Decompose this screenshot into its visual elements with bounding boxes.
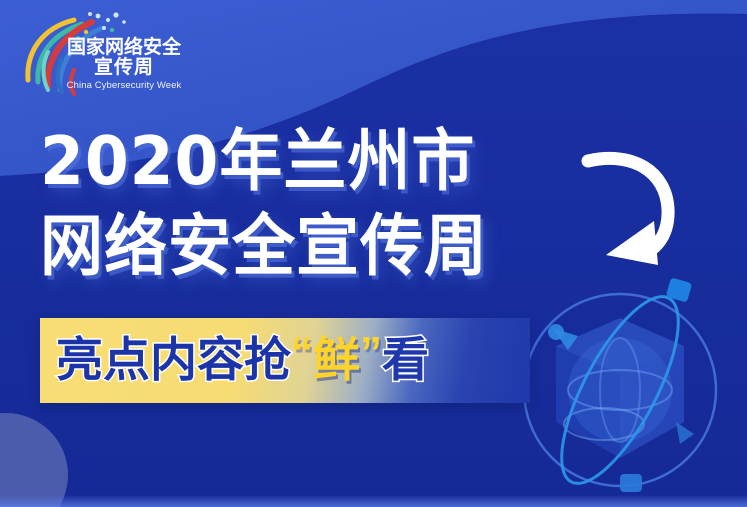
banner-quote-close: ”: [360, 328, 382, 378]
bottom-accent-band: [0, 495, 747, 507]
logo-cn-line1: 国家网络安全: [64, 38, 184, 58]
banner-segment-2: 看: [382, 337, 429, 384]
logo-text-block: 国家网络安全 宣传周 China Cybersecurity Week: [64, 38, 184, 91]
page-title: 2020年兰州市 网络安全宣传周: [40, 116, 640, 286]
banner-quote-open: “: [291, 328, 313, 378]
banner-text-row: 亮点内容抢 “ 鲜 ” 看: [40, 318, 530, 403]
banner-segment-1: 亮点内容抢: [56, 337, 291, 384]
logo-cn-line2: 宣传周: [64, 58, 184, 78]
poster-canvas: 国家网络安全 宣传周 China Cybersecurity Week 2020…: [0, 0, 747, 507]
banner-highlight-char: 鲜: [313, 337, 360, 384]
headline-line-2: 网络安全宣传周: [40, 201, 640, 291]
highlight-banner: 亮点内容抢 “ 鲜 ” 看: [40, 318, 530, 403]
tech-globe-cube-graphic: [500, 272, 740, 507]
curved-down-arrow-icon: [580, 143, 690, 273]
headline-line-1: 2020年兰州市: [40, 116, 640, 206]
cybersecurity-week-logo: 国家网络安全 宣传周 China Cybersecurity Week: [12, 8, 184, 106]
logo-en-text: China Cybersecurity Week: [64, 81, 184, 91]
